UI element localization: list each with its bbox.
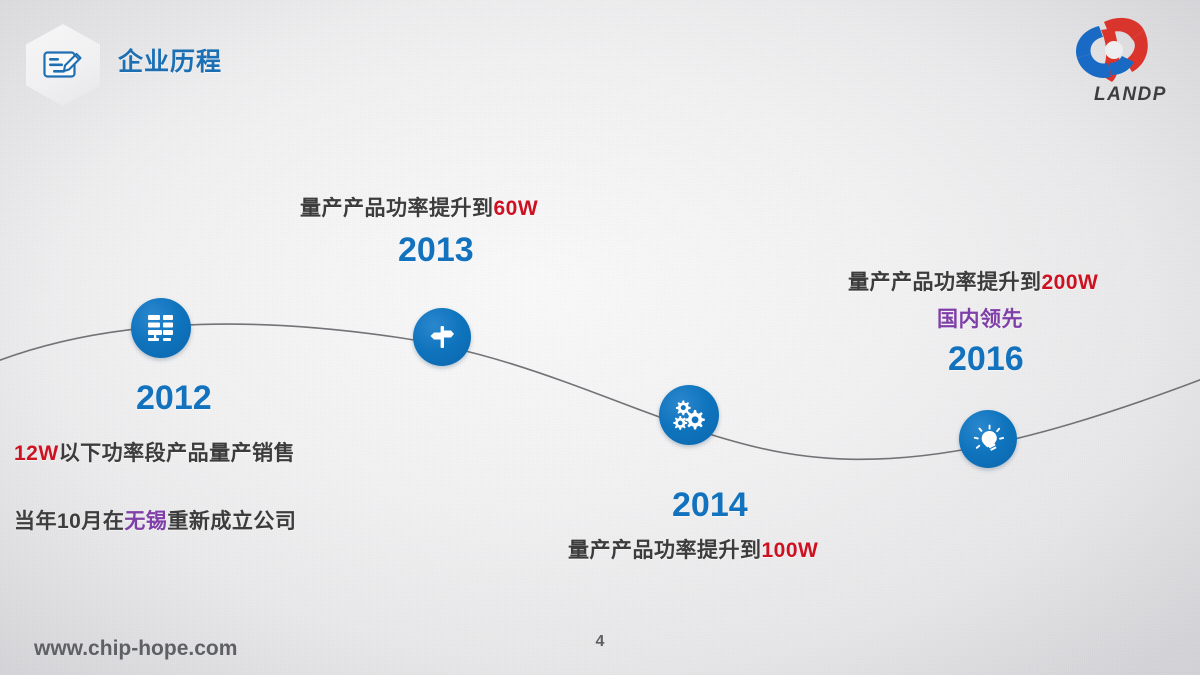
page-title: 企业历程 xyxy=(118,42,222,78)
milestone-2014-node[interactable] xyxy=(659,385,719,445)
gears-icon xyxy=(672,398,706,432)
header-badge xyxy=(26,24,100,106)
milestone-2014-caption: 量产产品功率提升到100W xyxy=(568,534,818,564)
milestone-2012-city: 无锡 xyxy=(124,510,167,533)
milestone-2014-year: 2014 xyxy=(672,486,748,525)
milestone-2012-caption-2: 当年10月在无锡重新成立公司 xyxy=(14,505,296,535)
milestone-2012-caption-2a: 当年10月在 xyxy=(14,510,124,533)
milestone-2012-power: 12W xyxy=(14,442,59,465)
page-number: 4 xyxy=(0,633,1200,651)
logo-wordmark: LANDP xyxy=(1094,84,1167,106)
milestone-2013-year: 2013 xyxy=(398,231,474,270)
signpost-icon xyxy=(427,322,457,352)
milestone-2012-caption-2c: 重新成立公司 xyxy=(167,510,296,533)
milestone-2012-year: 2012 xyxy=(136,379,212,418)
slide-canvas: 企业历程 LANDP 量产产品功率提升到60W 2013 xyxy=(0,0,1200,675)
milestone-2016-node[interactable] xyxy=(959,410,1017,468)
document-pen-icon xyxy=(42,46,84,84)
milestone-2016-caption-text: 量产产品功率提升到 xyxy=(848,271,1042,294)
milestone-2016-caption-2: 国内领先 xyxy=(937,303,1023,333)
lightbulb-icon xyxy=(972,423,1004,455)
milestone-2012-node[interactable] xyxy=(131,298,191,358)
milestone-2016-caption-1: 量产产品功率提升到200W xyxy=(848,266,1098,296)
milestone-2016-power: 200W xyxy=(1042,271,1099,294)
milestone-2012-caption-1: 12W以下功率段产品量产销售 xyxy=(14,437,295,467)
milestone-2014-power: 100W xyxy=(762,539,819,562)
milestone-2012-caption-1-text: 以下功率段产品量产销售 xyxy=(59,442,296,465)
milestone-2016-year: 2016 xyxy=(948,340,1024,379)
milestone-2014-caption-text: 量产产品功率提升到 xyxy=(568,539,762,562)
landp-mark-icon xyxy=(1052,12,1182,90)
server-rack-icon xyxy=(145,312,177,344)
brand-logo: LANDP xyxy=(1052,12,1182,108)
milestone-2013-caption-power: 60W xyxy=(494,197,539,220)
milestone-2013-caption: 量产产品功率提升到60W xyxy=(300,192,538,222)
milestone-2013-caption-text: 量产产品功率提升到 xyxy=(300,197,494,220)
milestone-2013-node[interactable] xyxy=(413,308,471,366)
